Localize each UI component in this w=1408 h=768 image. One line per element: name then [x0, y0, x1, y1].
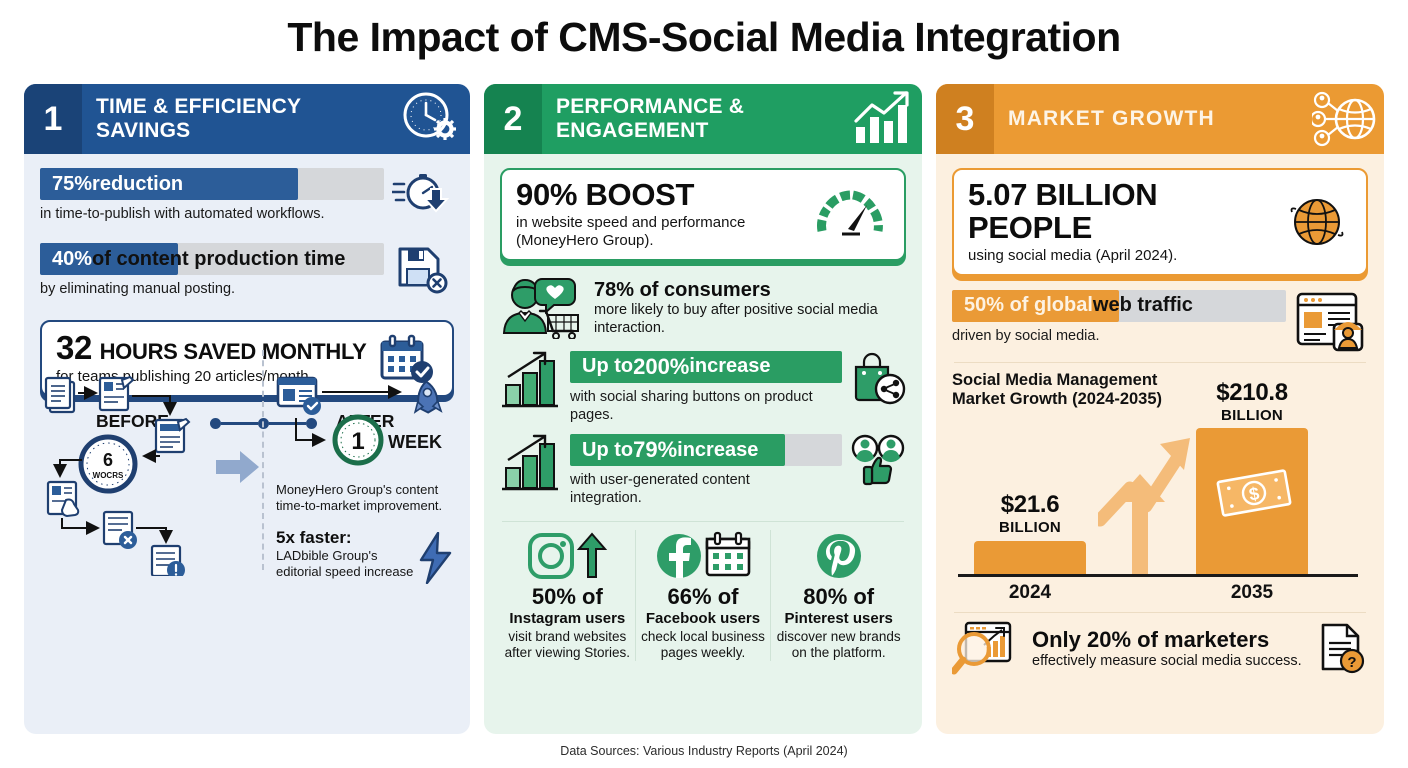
shopping-bag-share-icon	[850, 351, 906, 407]
column-3-header: 3 MARKET GROWTH	[936, 84, 1384, 154]
lightning-bolt-icon	[416, 532, 456, 584]
bar-subtext: by eliminating manual posting.	[40, 280, 384, 298]
users-thumbsup-icon	[850, 434, 906, 488]
bar-text: reduction	[92, 173, 183, 196]
chart-value-2035-number: $210.8	[1188, 379, 1316, 407]
bar-track: 40% of content production time	[40, 243, 384, 275]
chart-title-line1: Social Media Management	[952, 371, 1157, 389]
after-flow-diagram: 1 WEEK	[274, 376, 454, 486]
bar-value: 40%	[52, 248, 92, 271]
chart-plot-area: $21.6 BILLION $210.8 BILLION	[952, 410, 1368, 610]
bar-text: increase	[689, 355, 770, 378]
column-2-title: PERFORMANCE & ENGAGEMENT	[542, 95, 844, 142]
page-title: The Impact of CMS-Social Media Integrati…	[0, 14, 1408, 61]
magnifier-chart-icon	[952, 619, 1024, 677]
column-market-growth: 3 MARKET GROWTH	[936, 84, 1384, 734]
hours-saved-headline: 32 HOURS SAVED MONTHLY	[56, 331, 378, 366]
facebook-text: check local business pages weekly.	[640, 629, 767, 661]
social-cell-pinterest: 80% of Pinterest users discover new bran…	[770, 530, 906, 661]
users-sub: using social media (April 2024).	[968, 247, 1286, 265]
pinterest-label: Pinterest users	[775, 610, 902, 627]
column-3-title: MARKET GROWTH	[994, 107, 1306, 131]
bar-chart-up-icon	[844, 84, 922, 154]
stat-bar-40-production: 40% of content production time by elimin…	[40, 243, 384, 298]
after-note-text: MoneyHero Group's content time-to-market…	[276, 482, 458, 514]
clock-gear-icon	[392, 84, 470, 154]
instagram-pct: 50% of	[504, 584, 631, 610]
column-2-number: 2	[484, 84, 542, 154]
chart-value-2035-unit: BILLION	[1188, 407, 1316, 424]
transition-arrow-icon	[216, 449, 260, 485]
chart-label-2035: 2035	[1188, 582, 1316, 604]
section-divider	[502, 521, 904, 522]
consumers-sub: more likely to buy after positive social…	[594, 302, 906, 337]
hours-saved-text: HOURS SAVED MONTHLY	[100, 339, 367, 364]
pinterest-text: discover new brands on the platform.	[775, 629, 902, 661]
section-divider	[954, 362, 1366, 363]
bar-track: Up to 200% increase	[570, 351, 842, 383]
column-performance-engagement: 2 PERFORMANCE & ENGAGEMENT 90% BOO	[484, 84, 922, 734]
users-card: 5.07 BILLION PEOPLE using social media (…	[952, 168, 1368, 276]
growth-arrow-icon	[1098, 424, 1206, 574]
chart-title-line2: Market Growth	[952, 390, 1068, 408]
bar-subtext: with social sharing buttons on product p…	[570, 388, 842, 424]
bar-subtext: in time-to-publish with automated workfl…	[40, 205, 384, 223]
social-platform-grid: 50% of Instagram users visit brand websi…	[500, 530, 906, 661]
webpage-profile-icon	[1294, 290, 1368, 352]
bar-text: increase	[677, 439, 758, 462]
document-question-icon: ?	[1318, 622, 1368, 674]
svg-text:1: 1	[351, 428, 364, 455]
boost-sub: in website speed and performance (MoneyH…	[516, 214, 814, 250]
pinterest-icon	[775, 530, 902, 582]
boost-text: BOOST	[577, 177, 694, 212]
after-note: MoneyHero Group's content time-to-market…	[276, 482, 458, 514]
customer-heart-cart-icon	[500, 275, 584, 339]
chart-bar-2024	[974, 541, 1086, 574]
bar-text: of content production time	[92, 248, 345, 271]
bar-label: 50% of global web traffic	[964, 290, 1193, 322]
stat-bar-75-reduction: 75% reduction in time-to-publish with au…	[40, 168, 384, 223]
section-divider	[954, 612, 1366, 613]
marketers-headline: Only 20% of marketers	[1032, 627, 1310, 653]
globe-network-icon	[1306, 84, 1384, 154]
bar-subtext: with user-generated content integration.	[570, 471, 808, 507]
boost-headline: 90% BOOST	[516, 179, 814, 212]
svg-text:WEEK: WEEK	[388, 432, 442, 452]
hours-saved-number: 32	[56, 329, 92, 366]
money-bill-icon: $	[1216, 468, 1292, 518]
boost-card: 90% BOOST in website speed and performan…	[500, 168, 906, 261]
column-1-body: 75% reduction in time-to-publish with au…	[24, 154, 470, 734]
bar-prefix: Up to	[582, 355, 633, 378]
bar-track: Up to 79% increase	[570, 434, 842, 466]
column-time-efficiency: 1 TIME & EFFICIENCY SAVINGS	[24, 84, 470, 734]
bar-label: Up to 79% increase	[582, 434, 758, 466]
instagram-text: visit brand websites after viewing Stori…	[504, 629, 631, 661]
facebook-label: Facebook users	[640, 610, 767, 627]
floppy-disk-x-icon	[392, 243, 454, 295]
bar-label: 75% reduction	[52, 168, 183, 200]
marketers-stat: Only 20% of marketers effectively measur…	[952, 619, 1368, 677]
chart-title-years: (2024-2035)	[1072, 390, 1162, 408]
faster-headline: 5x faster:	[276, 528, 416, 548]
stat-bar-79-increase: Up to 79% increase with user-generated c…	[500, 434, 906, 507]
bar-subtext: driven by social media.	[952, 327, 1286, 345]
column-1-number: 1	[24, 84, 82, 154]
bar-prefix: Up to	[582, 439, 633, 462]
growth-bars-icon	[500, 351, 562, 411]
globe-icon	[1286, 193, 1352, 251]
facebook-pct: 66% of	[640, 584, 767, 610]
pinterest-pct: 80% of	[775, 584, 902, 610]
column-3-body: 5.07 BILLION PEOPLE using social media (…	[936, 154, 1384, 734]
bar-label: 40% of content production time	[52, 243, 345, 275]
stopwatch-down-arrow-icon	[392, 168, 454, 224]
svg-text:WOCRS: WOCRS	[93, 471, 124, 480]
chart-value-2024-unit: BILLION	[966, 519, 1094, 536]
boost-number: 90%	[516, 177, 577, 212]
chart-axis	[958, 574, 1358, 577]
chart-label-2024: 2024	[966, 582, 1094, 604]
bar-value: 79%	[633, 437, 677, 463]
bar-value: 75%	[52, 173, 92, 196]
column-2-body: 90% BOOST in website speed and performan…	[484, 154, 922, 734]
social-cell-facebook: 66% of Facebook users check local busine…	[635, 530, 771, 661]
column-3-number: 3	[936, 84, 994, 154]
svg-text:6: 6	[103, 450, 113, 470]
bar-track: 75% reduction	[40, 168, 384, 200]
speedometer-icon	[814, 187, 890, 241]
bar-track: 50% of global web traffic	[952, 290, 1286, 322]
chart-title: Social Media Management Market Growth (2…	[952, 371, 1202, 410]
consumers-headline: 78% of consumers	[594, 279, 906, 302]
users-number: 5.07	[968, 177, 1027, 212]
svg-text:?: ?	[1347, 654, 1356, 671]
chart-value-2024-number: $21.6	[966, 491, 1094, 519]
data-sources-footer: Data Sources: Various Industry Reports (…	[0, 744, 1408, 758]
chart-value-2035: $210.8 BILLION	[1188, 379, 1316, 424]
stat-bar-50-web-traffic: 50% of global web traffic driven by soci…	[952, 290, 1368, 352]
bar-value: 200%	[633, 354, 689, 380]
column-1-title: TIME & EFFICIENCY SAVINGS	[82, 95, 392, 142]
instagram-label: Instagram users	[504, 610, 631, 627]
users-headline: 5.07 BILLION PEOPLE	[968, 179, 1286, 245]
before-after-divider	[262, 350, 264, 570]
stat-bar-200-increase: Up to 200% increase with social sharing …	[500, 351, 906, 424]
faster-sub: LADbible Group's editorial speed increas…	[276, 548, 416, 580]
bar-text: web traffic	[1093, 294, 1193, 317]
instagram-up-icon	[504, 530, 631, 582]
market-growth-chart: Social Media Management Market Growth (2…	[952, 371, 1368, 610]
marketers-sub: effectively measure social media success…	[1032, 653, 1310, 669]
faster-stat: 5x faster: LADbible Group's editorial sp…	[276, 528, 416, 580]
column-1-header: 1 TIME & EFFICIENCY SAVINGS	[24, 84, 470, 154]
infographic-root: The Impact of CMS-Social Media Integrati…	[0, 0, 1408, 768]
chart-value-2024: $21.6 BILLION	[966, 491, 1094, 536]
growth-bars-icon	[500, 434, 562, 494]
bar-value: 50% of global	[964, 294, 1093, 317]
bar-label: Up to 200% increase	[582, 351, 771, 383]
consumers-stat: 78% of consumers more likely to buy afte…	[500, 275, 906, 339]
column-2-header: 2 PERFORMANCE & ENGAGEMENT	[484, 84, 922, 154]
facebook-calendar-icon	[640, 530, 767, 582]
social-cell-instagram: 50% of Instagram users visit brand websi…	[500, 530, 635, 661]
